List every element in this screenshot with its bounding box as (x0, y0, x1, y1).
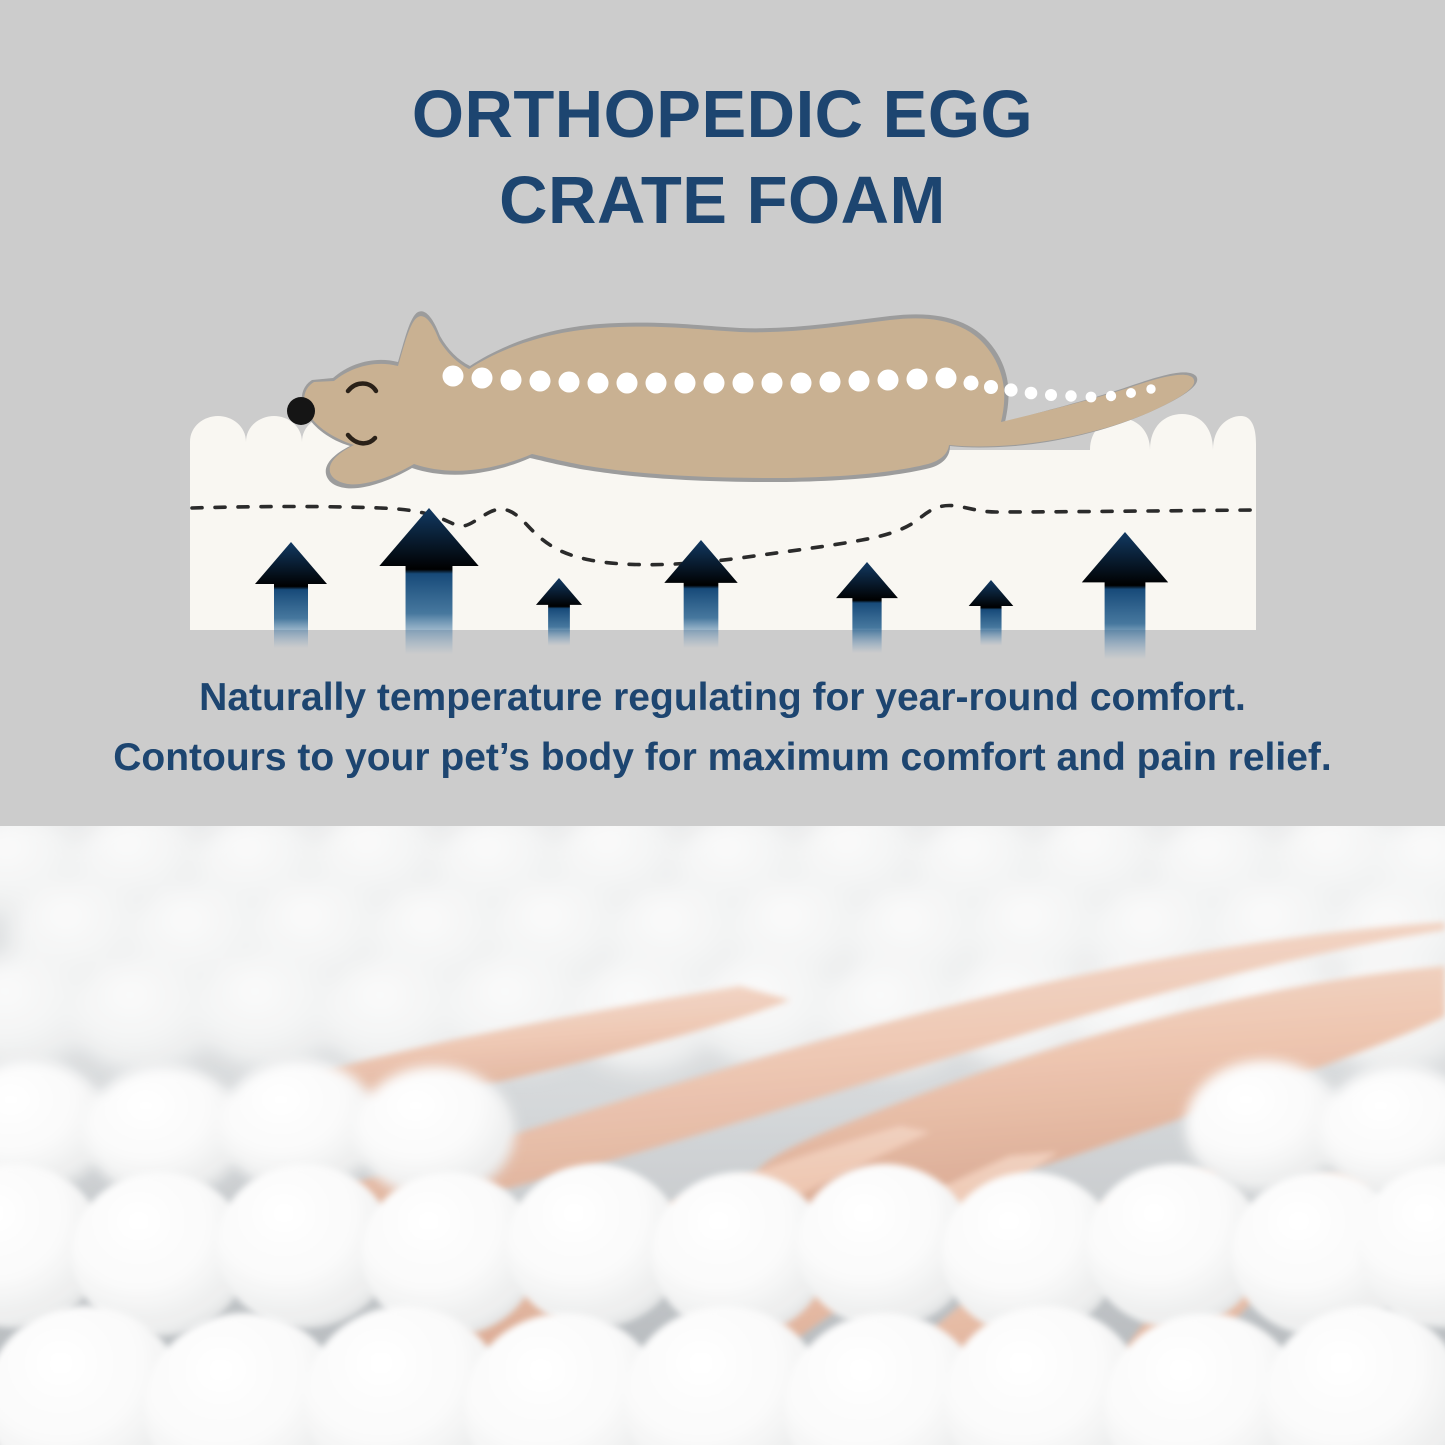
infographic-panel: ORTHOPEDIC EGG CRATE FOAM (0, 0, 1445, 826)
feature-caption: Naturally temperature regulating for yea… (0, 668, 1445, 788)
product-photo (0, 826, 1445, 1445)
caption-line-2: Contours to your pet’s body for maximum … (0, 728, 1445, 788)
egg-crate-foam-photo-illustration (0, 826, 1445, 1445)
dog-nose-icon (287, 397, 315, 425)
product-infographic-page: ORTHOPEDIC EGG CRATE FOAM (0, 0, 1445, 1445)
dog-on-foam-diagram (0, 250, 1445, 670)
caption-line-1: Naturally temperature regulating for yea… (0, 668, 1445, 728)
page-title: ORTHOPEDIC EGG CRATE FOAM (0, 72, 1445, 244)
